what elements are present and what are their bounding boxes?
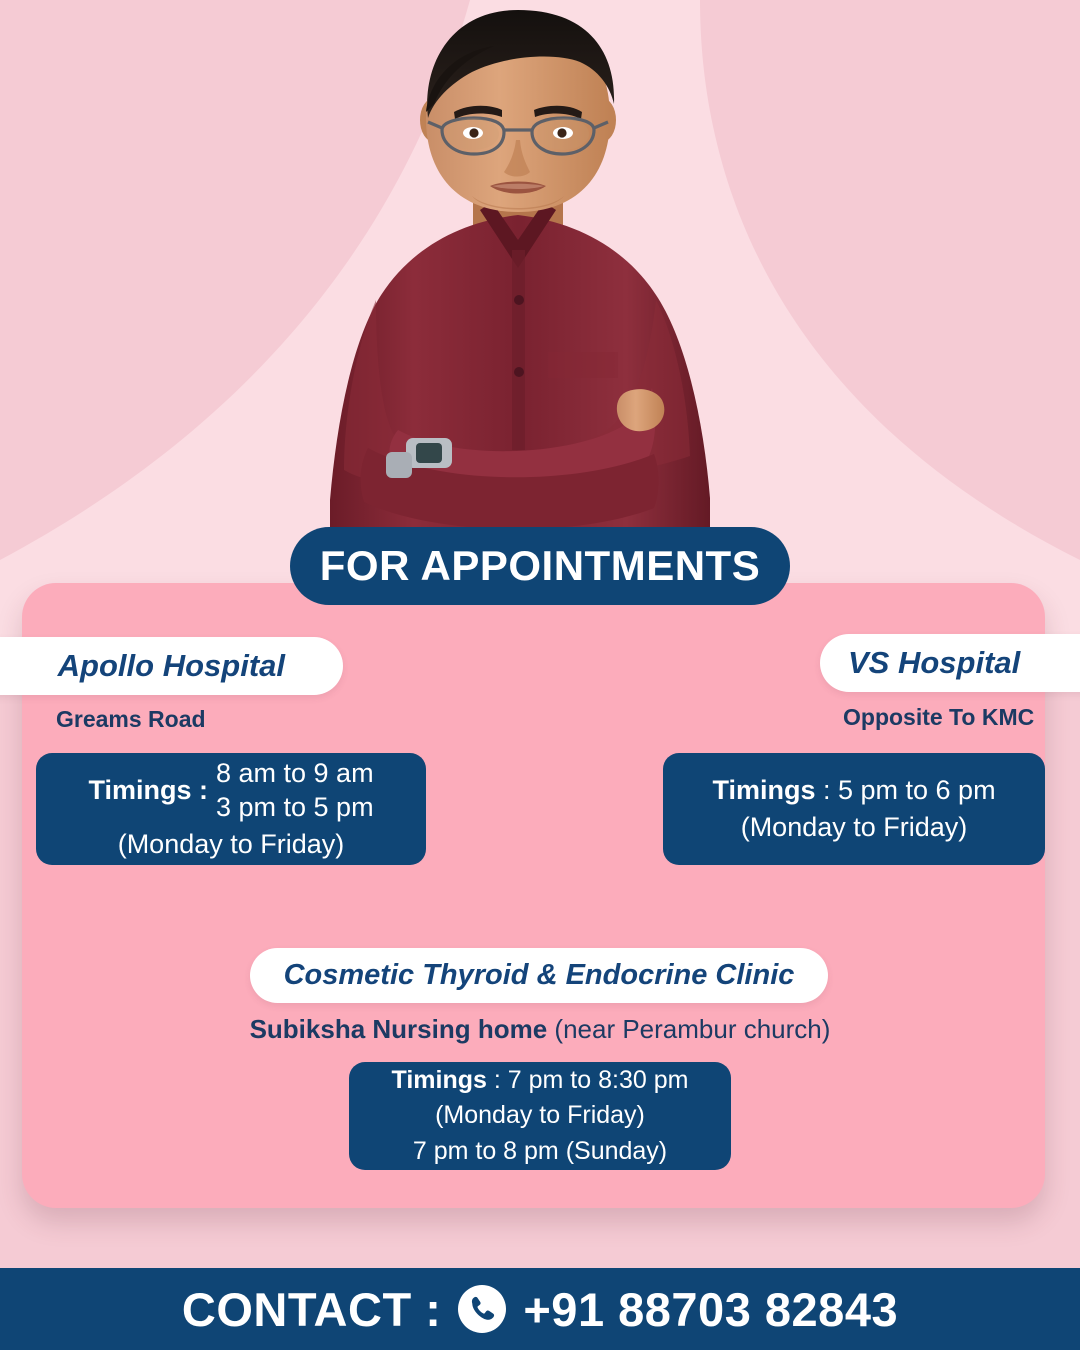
clinic-venue-note: (near Perambur church) (554, 1014, 830, 1044)
timings-values-apollo: 8 am to 9 am 3 pm to 5 pm (216, 756, 374, 825)
timings-separator-vs: : (815, 775, 838, 805)
location-address-apollo: Greams Road (56, 706, 206, 733)
timings-value-vs: 5 pm to 6 pm (838, 775, 996, 805)
timings-box-apollo: Timings : 8 am to 9 am 3 pm to 5 pm (Mon… (36, 753, 426, 865)
for-appointments-banner: FOR APPOINTMENTS (290, 527, 790, 605)
clinic-timing-line-1: Timings : 7 pm to 8:30 pm (392, 1063, 689, 1099)
timing-line-morning: 8 am to 9 am (216, 756, 374, 791)
location-pill-vs-hospital: VS Hospital (820, 634, 1080, 692)
timings-days-apollo: (Monday to Friday) (118, 827, 345, 862)
timings-label-vs: Timings (712, 775, 815, 805)
banner-label: FOR APPOINTMENTS (320, 542, 760, 590)
clinic-name: Cosmetic Thyroid & Endocrine Clinic (284, 959, 795, 992)
timing-line-evening: 3 pm to 5 pm (216, 790, 374, 825)
clinic-timing-line-2: (Monday to Friday) (435, 1098, 645, 1134)
clinic-timings-label: Timings (392, 1066, 487, 1094)
clinic-venue: Subiksha Nursing home (near Perambur chu… (0, 1014, 1080, 1045)
clinic-timings-rest: : 7 pm to 8:30 pm (487, 1066, 689, 1094)
location-pill-clinic: Cosmetic Thyroid & Endocrine Clinic (250, 948, 828, 1003)
contact-number: +91 88703 82843 (523, 1282, 898, 1337)
timings-line-vs: Timings : 5 pm to 6 pm (712, 772, 995, 809)
location-address-vs: Opposite To KMC (843, 704, 1034, 731)
timings-box-clinic: Timings : 7 pm to 8:30 pm (Monday to Fri… (349, 1062, 731, 1170)
timings-days-vs: (Monday to Friday) (741, 809, 968, 846)
contact-bar: CONTACT : +91 88703 82843 (0, 1268, 1080, 1350)
timings-box-vs: Timings : 5 pm to 6 pm (Monday to Friday… (663, 753, 1045, 865)
clinic-venue-name: Subiksha Nursing home (250, 1014, 548, 1044)
phone-icon (457, 1284, 507, 1334)
doctor-portrait (258, 0, 778, 575)
location-pill-apollo-hospital: Apollo Hospital (0, 637, 343, 695)
clinic-timing-line-3: 7 pm to 8 pm (Sunday) (413, 1134, 667, 1170)
timings-label-apollo: Timings : (88, 775, 208, 806)
location-name-apollo: Apollo Hospital (58, 648, 285, 684)
timings-row-apollo: Timings : 8 am to 9 am 3 pm to 5 pm (36, 756, 426, 825)
location-name-vs: VS Hospital (848, 645, 1020, 681)
contact-label: CONTACT : (182, 1282, 441, 1337)
